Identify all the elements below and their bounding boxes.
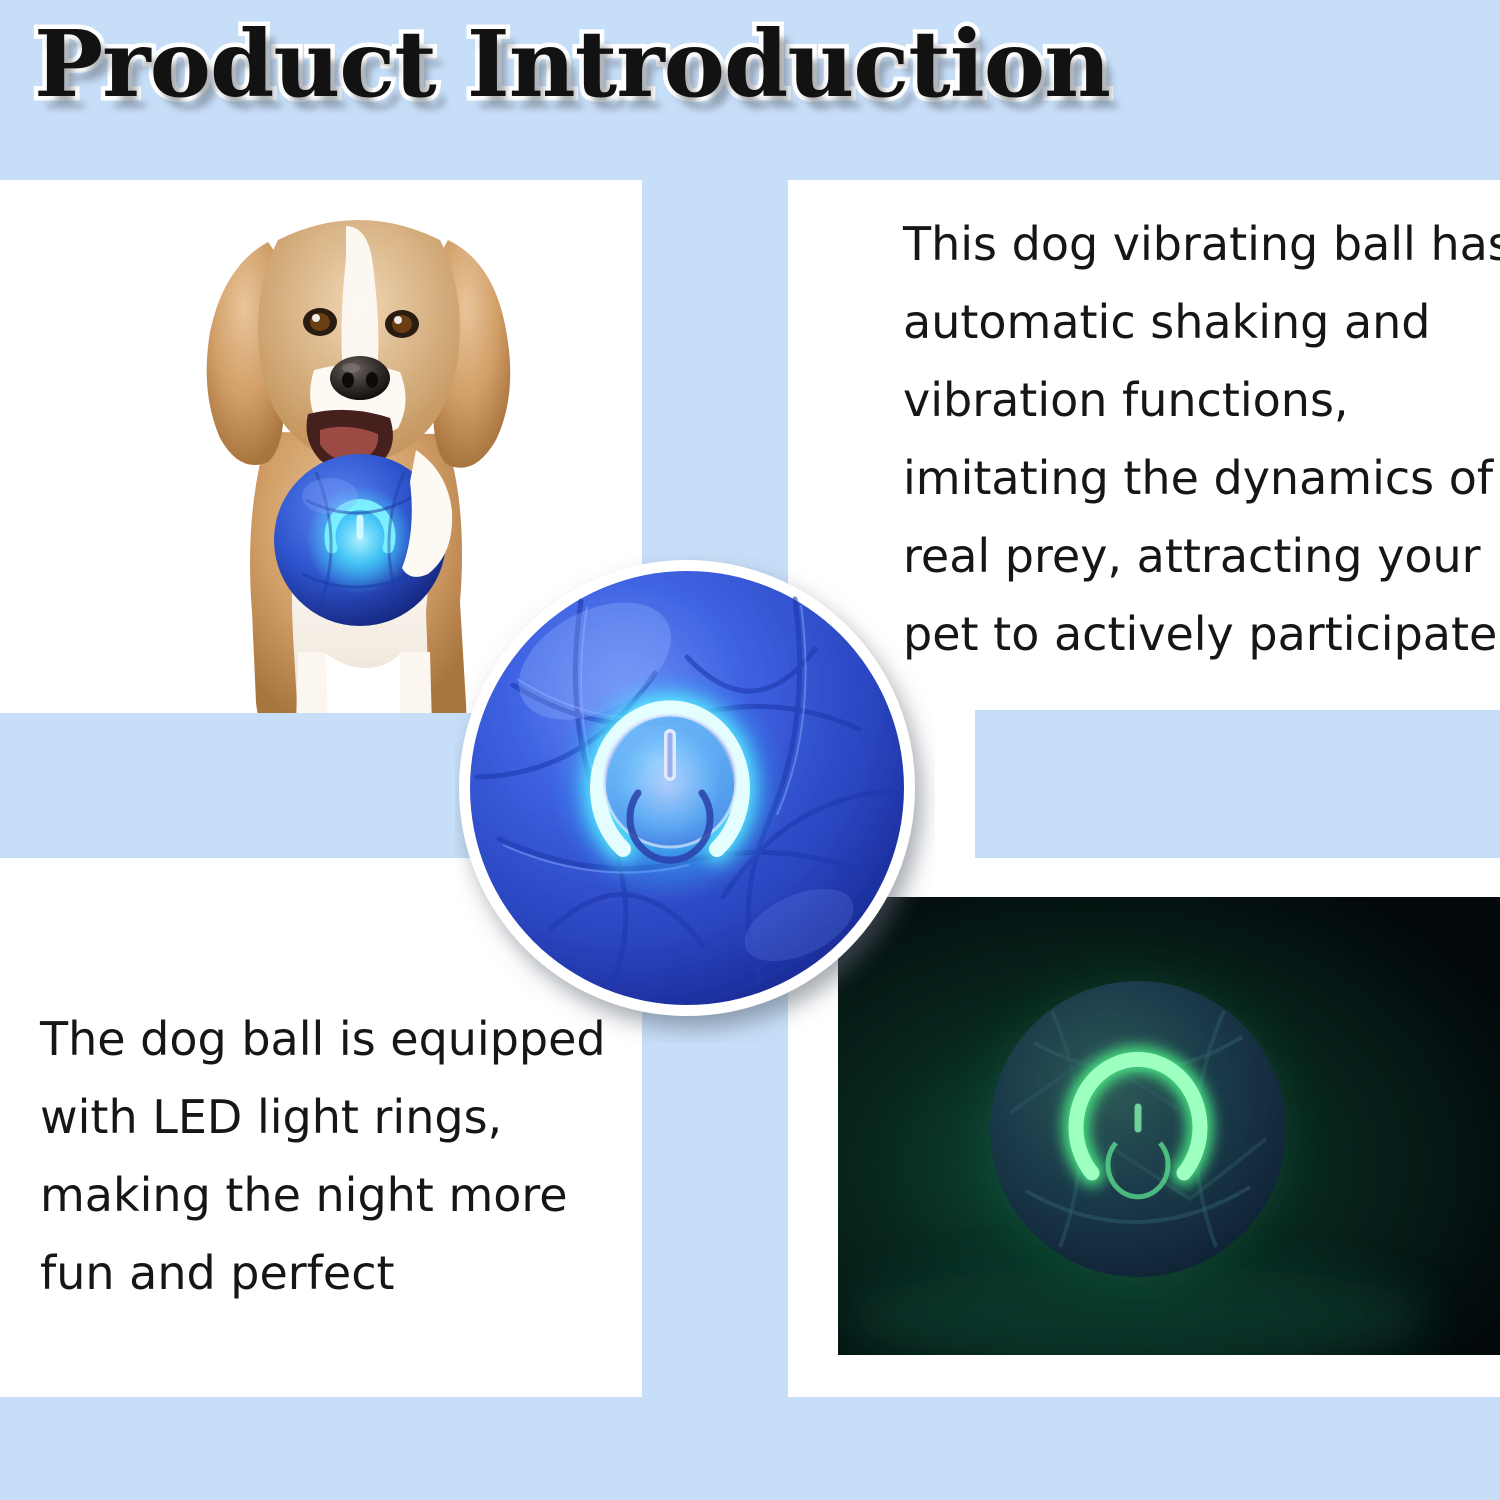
- hero-ball-image: [455, 553, 935, 1043]
- right-copy-line: vibration functions,: [903, 361, 1478, 439]
- left-copy-line: making the night more: [40, 1156, 600, 1234]
- night-photo: [838, 897, 1500, 1355]
- right-copy-line: This dog vibrating ball has: [903, 205, 1478, 283]
- blue-band-right: [975, 710, 1500, 858]
- left-copy-line: fun and perfect: [40, 1234, 600, 1312]
- right-copy-line: real prey, attracting your: [903, 517, 1478, 595]
- left-copy-line: with LED light rings,: [40, 1078, 600, 1156]
- footer-band: [0, 1397, 1500, 1500]
- left-description-text: The dog ball is equipped with LED light …: [40, 1000, 600, 1312]
- right-copy-line: imitating the dynamics of: [903, 439, 1478, 517]
- page-title: Product Introduction: [34, 14, 1110, 114]
- right-copy-line: automatic shaking and: [903, 283, 1478, 361]
- right-description-text: This dog vibrating ball has automatic sh…: [903, 205, 1478, 673]
- right-copy-line: pet to actively participate.: [903, 595, 1478, 673]
- left-copy-line: The dog ball is equipped: [40, 1000, 600, 1078]
